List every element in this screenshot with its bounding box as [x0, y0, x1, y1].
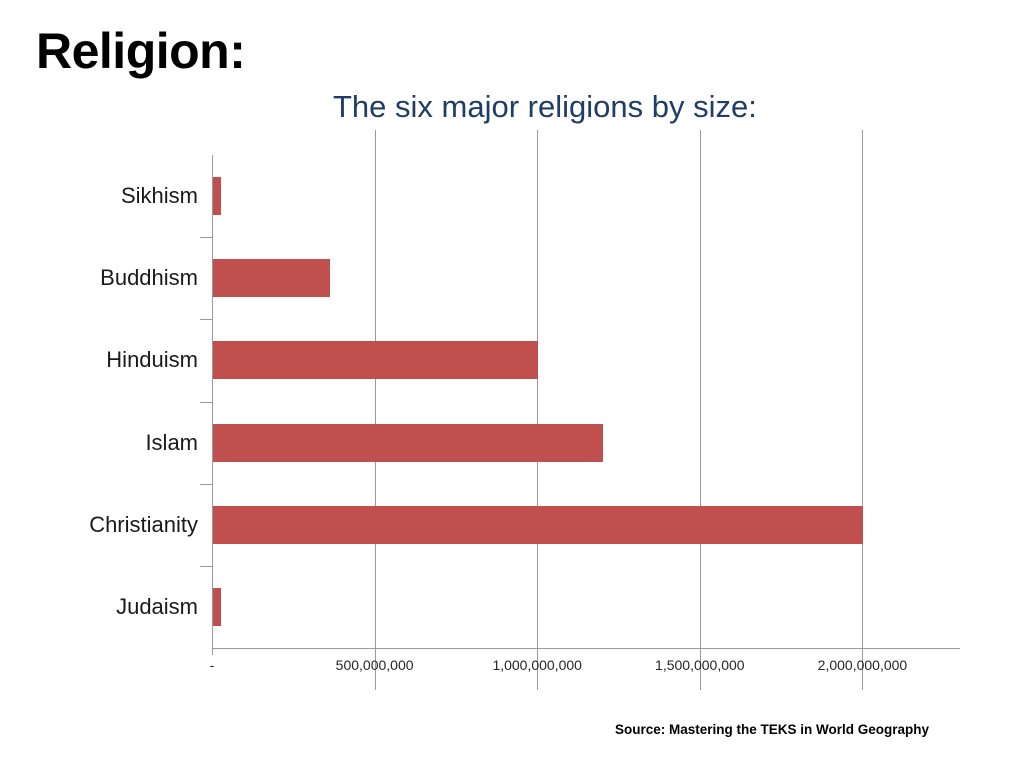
source-note: Source: Mastering the TEKS in World Geog… [615, 722, 929, 737]
chart-subtitle: The six major religions by size: [333, 91, 757, 122]
bar [213, 506, 863, 544]
y-axis-tick [200, 402, 212, 403]
gridline [537, 130, 538, 690]
y-axis-category-label: Judaism [0, 596, 212, 618]
x-axis-tick [700, 648, 701, 655]
y-axis-tick [200, 319, 212, 320]
plot-area [212, 155, 960, 648]
gridline [700, 130, 701, 690]
y-axis-category-label: Islam [0, 432, 212, 454]
x-axis-tick [375, 648, 376, 655]
x-axis-tick [537, 648, 538, 655]
bar [213, 588, 221, 626]
gridline [862, 130, 863, 690]
bar [213, 341, 538, 379]
y-axis-line [212, 155, 213, 648]
x-axis-tick-label: 1,500,000,000 [655, 658, 745, 672]
x-axis-tick [212, 648, 213, 655]
y-axis-tick [200, 566, 212, 567]
page-title: Religion: [36, 26, 245, 76]
bar [213, 177, 221, 215]
bar [213, 424, 603, 462]
y-axis-tick [200, 484, 212, 485]
x-axis-tick-label: 500,000,000 [336, 658, 414, 672]
x-axis-tick [862, 648, 863, 655]
x-axis-line [212, 648, 960, 649]
religions-bar-chart: SikhismBuddhismHinduismIslamChristianity… [0, 130, 1024, 690]
y-axis-category-label: Sikhism [0, 185, 212, 207]
y-axis-tick [200, 237, 212, 238]
x-axis-tick-label: 2,000,000,000 [818, 658, 908, 672]
x-axis-tick-label: - [210, 658, 215, 672]
gridline [375, 130, 376, 690]
y-axis-category-label: Hinduism [0, 349, 212, 371]
y-axis-category-label: Christianity [0, 514, 212, 536]
x-axis-tick-label: 1,000,000,000 [492, 658, 582, 672]
bar [213, 259, 330, 297]
y-axis-category-label: Buddhism [0, 267, 212, 289]
